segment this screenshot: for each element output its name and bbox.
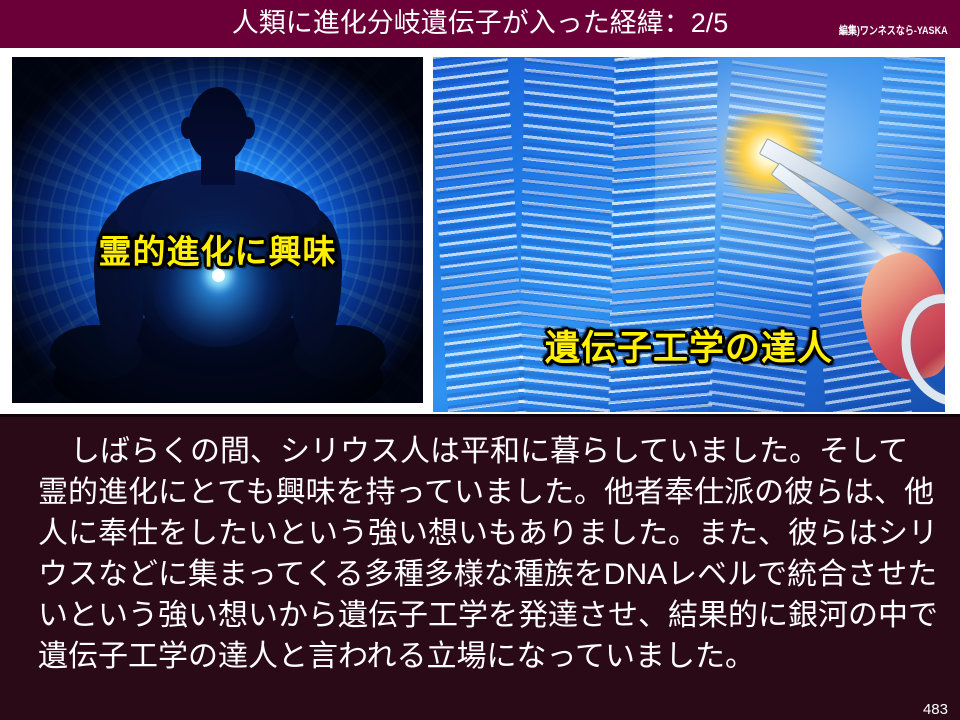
dna-engineering-image: 遺伝子工学の達人 <box>433 57 945 412</box>
right-image-caption: 遺伝子工学の達人 <box>433 320 945 371</box>
page-number: 483 <box>923 701 948 718</box>
body-text-panel: しばらくの間、シリウス人は平和に暮らしていました。そして霊的進化にとても興味を持… <box>0 417 960 720</box>
editor-credit: 編集)ワンネスなら-YASKA <box>839 22 948 38</box>
page-title: 人類に進化分岐遺伝子が入った経緯：2/5 <box>0 0 960 46</box>
image-row: 霊的進化に興味 遺伝子工学の達人 <box>0 48 960 416</box>
header-bar: 人類に進化分岐遺伝子が入った経緯：2/5 編集)ワンネスなら-YASKA <box>0 0 960 48</box>
left-image-caption: 霊的進化に興味 <box>12 225 423 273</box>
body-paragraph: しばらくの間、シリウス人は平和に暮らしていました。そして霊的進化にとても興味を持… <box>38 431 938 677</box>
meditation-image: 霊的進化に興味 <box>12 57 423 403</box>
